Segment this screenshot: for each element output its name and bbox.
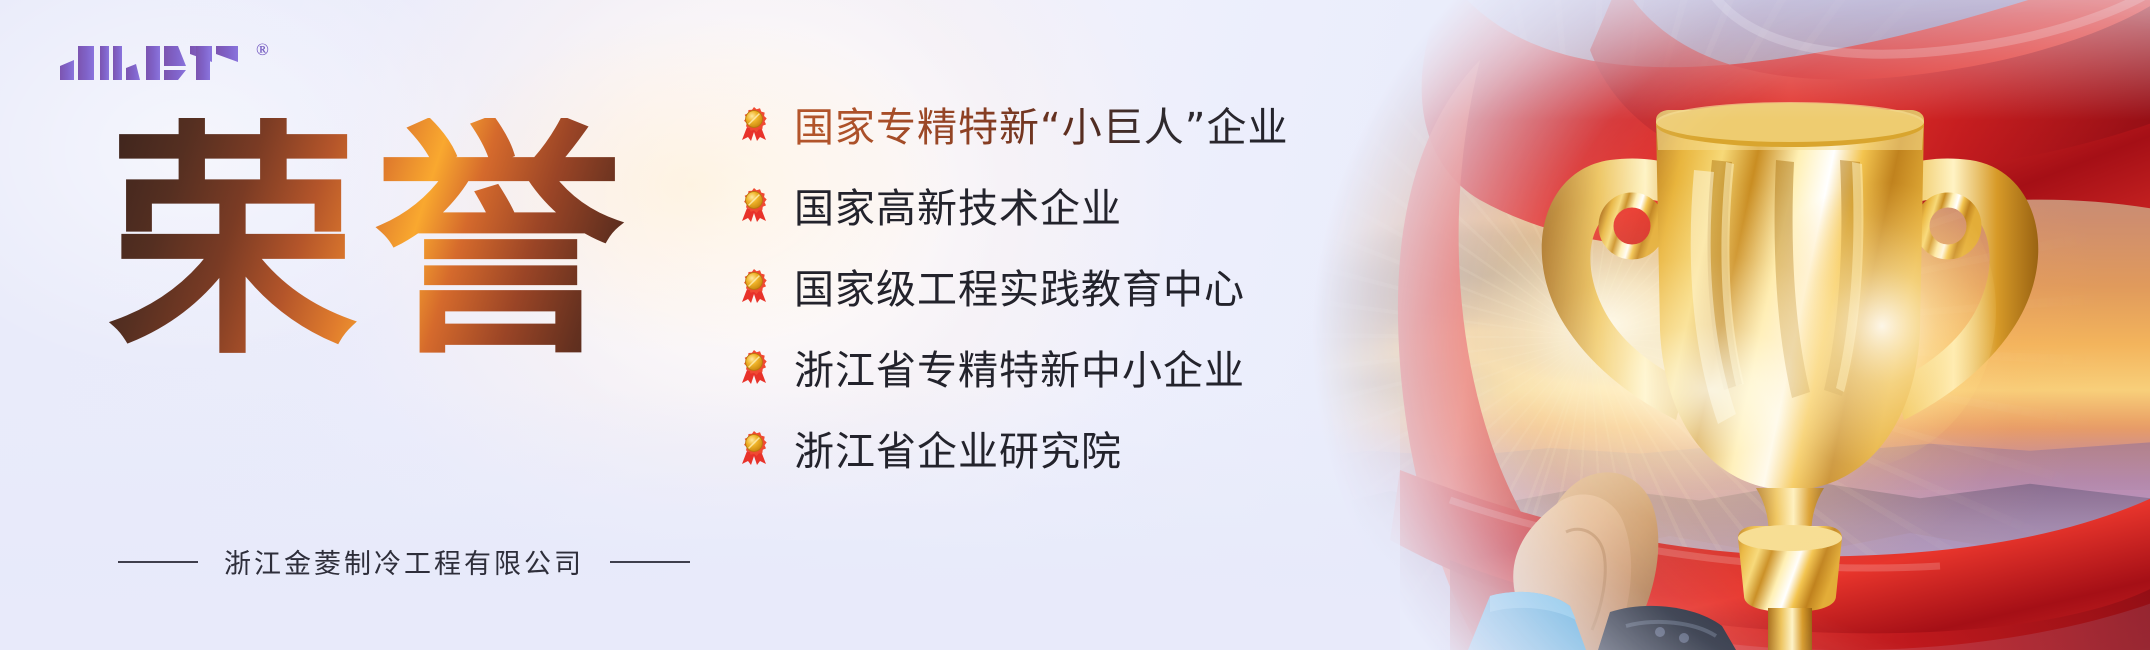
list-item-label: 浙江省企业研究院 (794, 419, 1122, 477)
list-item: 国家级工程实践教育中心 (738, 257, 1288, 315)
list-item: 国家高新技术企业 (738, 176, 1288, 234)
list-item: 国家专精特新“小巨人”企业 (738, 95, 1288, 153)
list-item: 浙江省专精特新中小企业 (738, 338, 1288, 396)
award-medal-icon (738, 349, 770, 385)
page-title: 荣誉 (108, 118, 640, 368)
honors-banner: ® 荣誉 浙江金菱制冷工程有限公司 (0, 0, 2150, 650)
award-medal-icon (738, 268, 770, 304)
hands-holding-trophy-icon (1460, 420, 1880, 650)
jlrt-logo-mark (60, 38, 250, 80)
award-medal-icon (738, 187, 770, 223)
honors-list: 国家专精特新“小巨人”企业 (738, 95, 1288, 477)
list-item-label: 国家专精特新“小巨人”企业 (794, 95, 1288, 153)
registered-trademark-icon: ® (256, 40, 269, 60)
list-item-label: 浙江省专精特新中小企业 (794, 338, 1245, 396)
award-medal-icon (738, 106, 770, 142)
company-name-row: 浙江金菱制冷工程有限公司 (118, 542, 690, 581)
list-item-label: 国家高新技术企业 (794, 176, 1122, 234)
divider-right (610, 561, 690, 563)
trophy-photo-collage (1150, 0, 2150, 650)
company-name: 浙江金菱制冷工程有限公司 (224, 542, 584, 581)
list-item: 浙江省企业研究院 (738, 419, 1288, 477)
company-logo[interactable]: ® (60, 38, 290, 94)
list-item-label: 国家级工程实践教育中心 (794, 257, 1245, 315)
divider-left (118, 561, 198, 563)
award-medal-icon (738, 430, 770, 466)
